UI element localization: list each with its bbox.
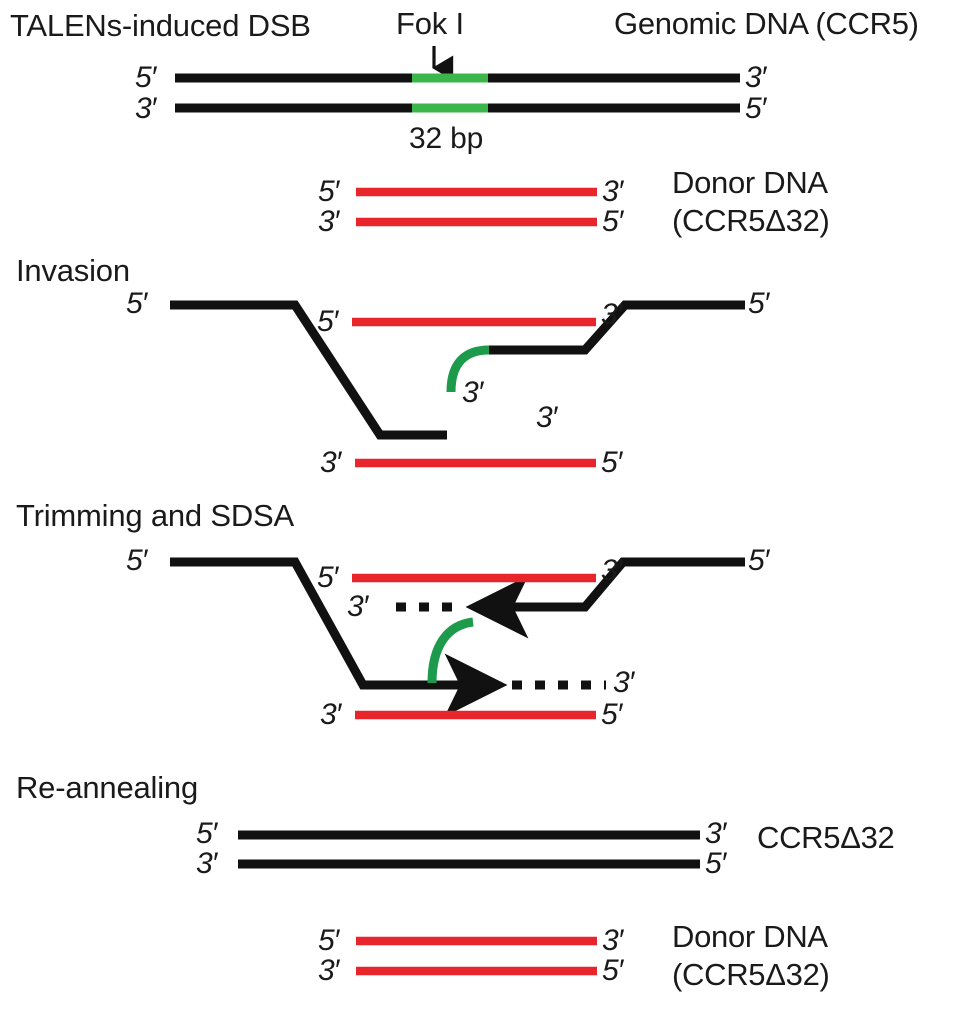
sdsa-genomic-left-end-label: 5′ <box>126 546 146 576</box>
sdsa-donor-bottom-right-end-label: 5′ <box>601 700 621 730</box>
donor-bottom-panel-bottom-right-end-label: 5′ <box>602 956 622 986</box>
invasion-donor-bottom-left-end-label: 3′ <box>320 448 340 478</box>
sdsa-upper-synthesis-start-label: 3′ <box>347 592 367 622</box>
reannealing-step-label: Re-annealing <box>16 772 198 803</box>
reannealing-bottom-right-end-label: 5′ <box>705 849 725 879</box>
donor-bottom-panel-top-left-end-label: 5′ <box>318 926 338 956</box>
dsb-bottom-left-end-label: 3′ <box>135 94 155 124</box>
panel-sdsa-artwork <box>170 562 745 715</box>
donor-dna-bottom-label-line1: Donor DNA <box>672 921 828 952</box>
sdsa-genomic-right-end-label: 5′ <box>748 546 768 576</box>
fok-i-label: Fok I <box>396 8 464 39</box>
dsb-bottom-right-end-label: 5′ <box>745 94 765 124</box>
panel-donor-bottom-artwork <box>356 941 597 971</box>
reannealing-bottom-left-end-label: 3′ <box>196 849 216 879</box>
invasion-donor-top-left-end-label: 5′ <box>317 307 337 337</box>
panel-invasion-artwork <box>170 305 745 463</box>
invasion-donor-top-right-end-label: 3′ <box>601 300 621 330</box>
invasion-genomic-left-end-label: 5′ <box>126 289 146 319</box>
sdsa-step-label: Trimming and SDSA <box>16 500 294 531</box>
invasion-invading-3prime-upper-label: 3′ <box>462 378 482 408</box>
donor-bottom-left-end-label: 3′ <box>318 207 338 237</box>
donor-dna-label-line1: Donor DNA <box>672 167 828 198</box>
ccr5-delta32-product-label: CCR5Δ32 <box>757 822 895 853</box>
donor-bottom-panel-bottom-left-end-label: 3′ <box>318 956 338 986</box>
invasion-donor-bottom-right-end-label: 5′ <box>601 448 621 478</box>
donor-dna-bottom-label-line2: (CCR5Δ32) <box>672 959 830 990</box>
panel-donor-top-artwork <box>356 192 597 222</box>
panel-reannealing-artwork <box>238 835 700 864</box>
invasion-step-label: Invasion <box>16 255 130 286</box>
panel-dsb-artwork <box>175 46 740 108</box>
dsb-step-label: TALENs-induced DSB <box>10 10 311 41</box>
donor-top-left-end-label: 5′ <box>318 177 338 207</box>
donor-top-right-end-label: 3′ <box>602 177 622 207</box>
genomic-dna-label: Genomic DNA (CCR5) <box>614 8 919 39</box>
donor-dna-label-line2: (CCR5Δ32) <box>672 205 830 236</box>
donor-bottom-right-end-label: 5′ <box>602 207 622 237</box>
reannealing-top-left-end-label: 5′ <box>196 819 216 849</box>
target-site-span-label: 32 bp <box>409 124 483 154</box>
donor-bottom-panel-top-right-end-label: 3′ <box>602 926 622 956</box>
sdsa-donor-top-left-end-label: 5′ <box>317 563 337 593</box>
sdsa-lower-synthesis-end-label: 3′ <box>613 668 633 698</box>
reannealing-top-right-end-label: 3′ <box>705 819 725 849</box>
sdsa-donor-top-right-end-label: 3′ <box>601 556 621 586</box>
invasion-invading-3prime-lower-label: 3′ <box>536 403 556 433</box>
dsb-top-right-end-label: 3′ <box>745 63 765 93</box>
figure-canvas: TALENs-induced DSB Fok I Genomic DNA (CC… <box>0 0 969 1016</box>
invasion-genomic-right-end-label: 5′ <box>748 289 768 319</box>
dsb-top-left-end-label: 5′ <box>135 63 155 93</box>
sdsa-green-arc-icon <box>432 622 473 683</box>
sdsa-donor-bottom-left-end-label: 3′ <box>320 700 340 730</box>
